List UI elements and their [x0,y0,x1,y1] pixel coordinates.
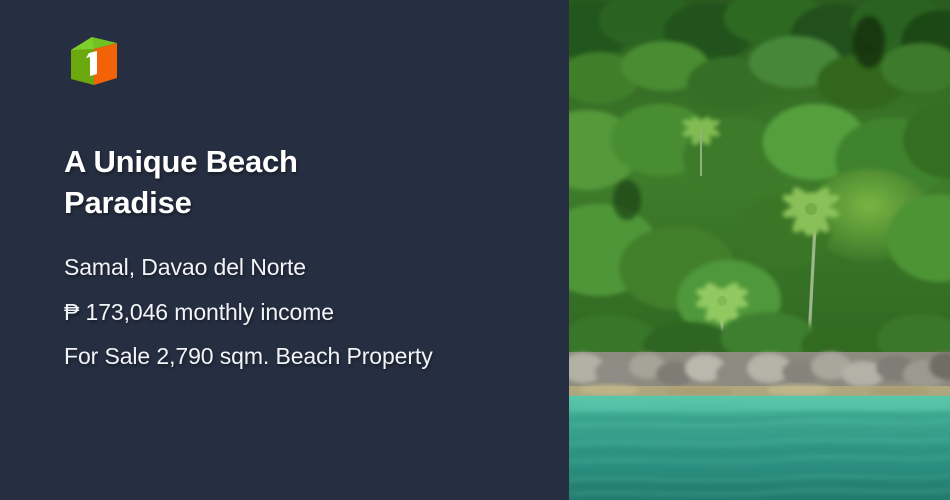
property-photo [569,0,950,500]
listing-location: Samal, Davao del Norte [64,245,444,289]
listing-details: Samal, Davao del Norte ₱ 173,046 monthly… [64,245,444,377]
house-one-logo-icon[interactable] [64,33,124,93]
page-title: A Unique Beach Paradise [64,141,394,223]
info-panel: A Unique Beach Paradise Samal, Davao del… [0,0,569,500]
sea-water [569,396,950,500]
rocky-shore [569,352,950,398]
jungle-shoreline-illustration [569,0,950,500]
listing-income: ₱ 173,046 monthly income [64,290,444,334]
listing-offer: For Sale 2,790 sqm. Beach Property [64,334,444,378]
listing-text-block: A Unique Beach Paradise Samal, Davao del… [64,141,529,378]
property-listing-card: A Unique Beach Paradise Samal, Davao del… [0,0,950,500]
